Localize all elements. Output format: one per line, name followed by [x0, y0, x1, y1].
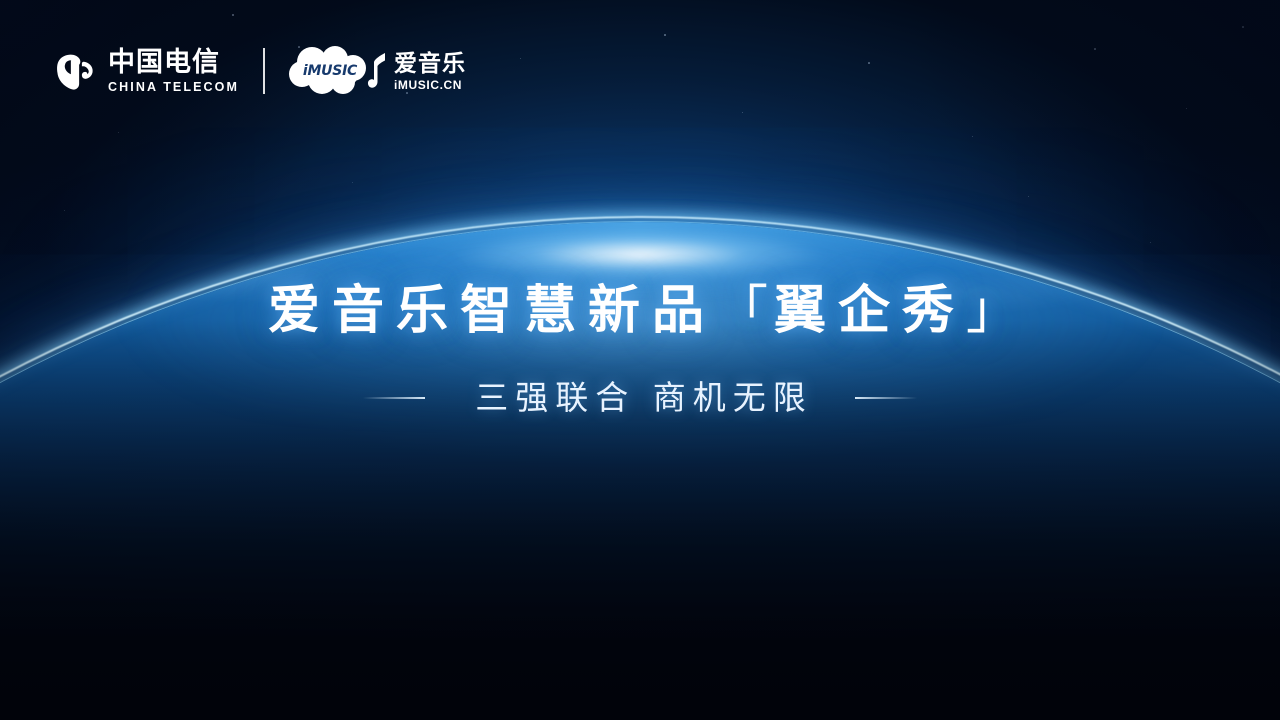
music-note-icon [367, 51, 389, 91]
china-telecom-en: CHINA TELECOM [108, 80, 239, 94]
imusic-wordmark: 爱音乐 iMUSIC.CN [394, 51, 466, 92]
corner-vignette [0, 0, 1280, 720]
product-name: 翼企秀 [774, 281, 966, 341]
bracket-open: 「 [716, 281, 774, 341]
page-title: 爱音乐智慧新品「翼企秀」 [256, 280, 1024, 342]
rule-right [855, 397, 917, 399]
subtitle-block: 三强联合 商机无限 [0, 375, 1280, 421]
svg-text:iMUSIC: iMUSIC [303, 63, 358, 79]
slide-canvas: 中国电信 CHINA TELECOM iMUSIC [0, 0, 1280, 720]
page-subtitle: 三强联合 商机无限 [425, 375, 855, 421]
imusic-logo[interactable]: iMUSIC 爱音乐 iMUSIC.CN [287, 45, 466, 97]
imusic-en: iMUSIC.CN [394, 78, 466, 92]
logo-divider [263, 48, 265, 94]
logo-bar: 中国电信 CHINA TELECOM iMUSIC [52, 42, 466, 100]
bracket-close: 」 [966, 281, 1024, 341]
headline-text: 爱音乐智慧新品 [268, 281, 716, 341]
china-telecom-logo[interactable]: 中国电信 CHINA TELECOM [52, 48, 239, 94]
imusic-cn: 爱音乐 [394, 51, 466, 77]
china-telecom-mark-icon [52, 48, 98, 94]
china-telecom-cn: 中国电信 [108, 48, 239, 78]
rule-left [363, 397, 425, 399]
imusic-cloud-icon: iMUSIC [287, 45, 373, 97]
headline-block: 爱音乐智慧新品「翼企秀」 [0, 280, 1280, 342]
china-telecom-wordmark: 中国电信 CHINA TELECOM [108, 48, 239, 94]
